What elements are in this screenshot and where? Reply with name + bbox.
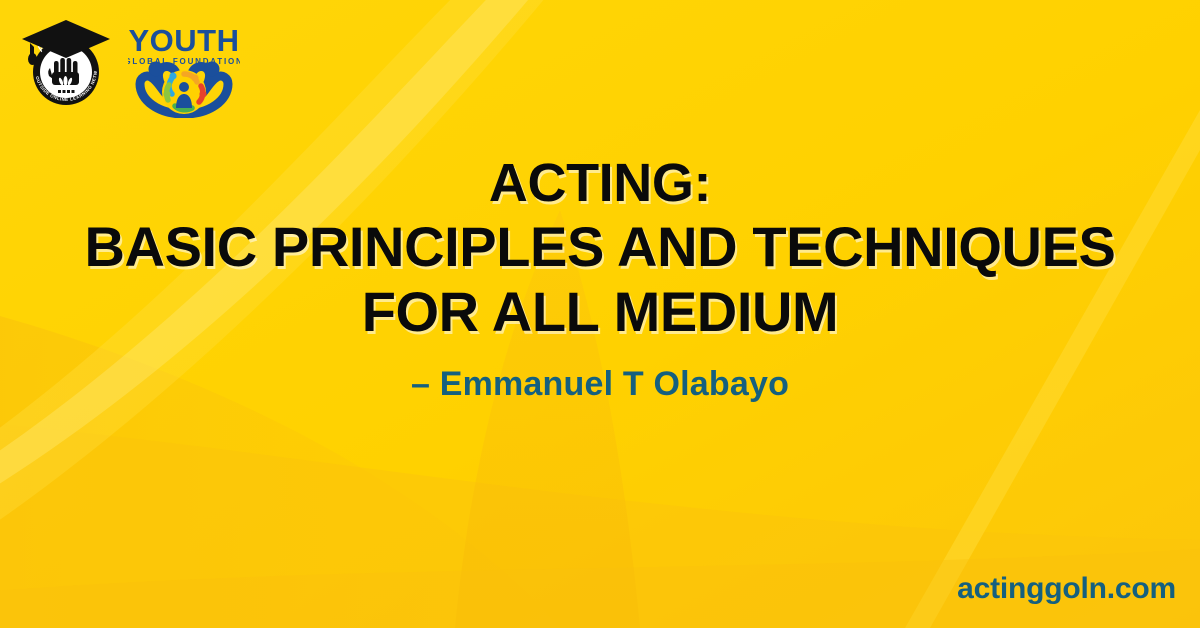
acting-logo: ACTING OUTSIDE ONLINE LEARNING NETWORK [18,14,114,118]
youth-global-foundation-logo: YOUTH GLOBAL FOUNDATION [128,14,240,118]
headline-block: ACTING: BASIC PRINCIPLES AND TECHNIQUES … [0,152,1200,404]
title-line-2: BASIC PRINCIPLES AND TECHNIQUES [14,215,1186,280]
logo-bar: ACTING OUTSIDE ONLINE LEARNING NETWORK [18,14,240,118]
youth-wordmark: YOUTH [129,23,240,58]
title-line-1: ACTING: [14,152,1186,215]
people-globe-circle-icon [140,62,228,115]
title-line-3: FOR ALL MEDIUM [14,280,1186,345]
global-foundation-wordmark: GLOBAL FOUNDATION [128,57,240,66]
course-title-banner: ACTING OUTSIDE ONLINE LEARNING NETWORK [0,0,1200,628]
website-url[interactable]: actinggoln.com [957,572,1176,606]
page-title: ACTING: BASIC PRINCIPLES AND TECHNIQUES … [14,152,1186,345]
author-byline: – Emmanuel T Olabayo [14,365,1186,404]
